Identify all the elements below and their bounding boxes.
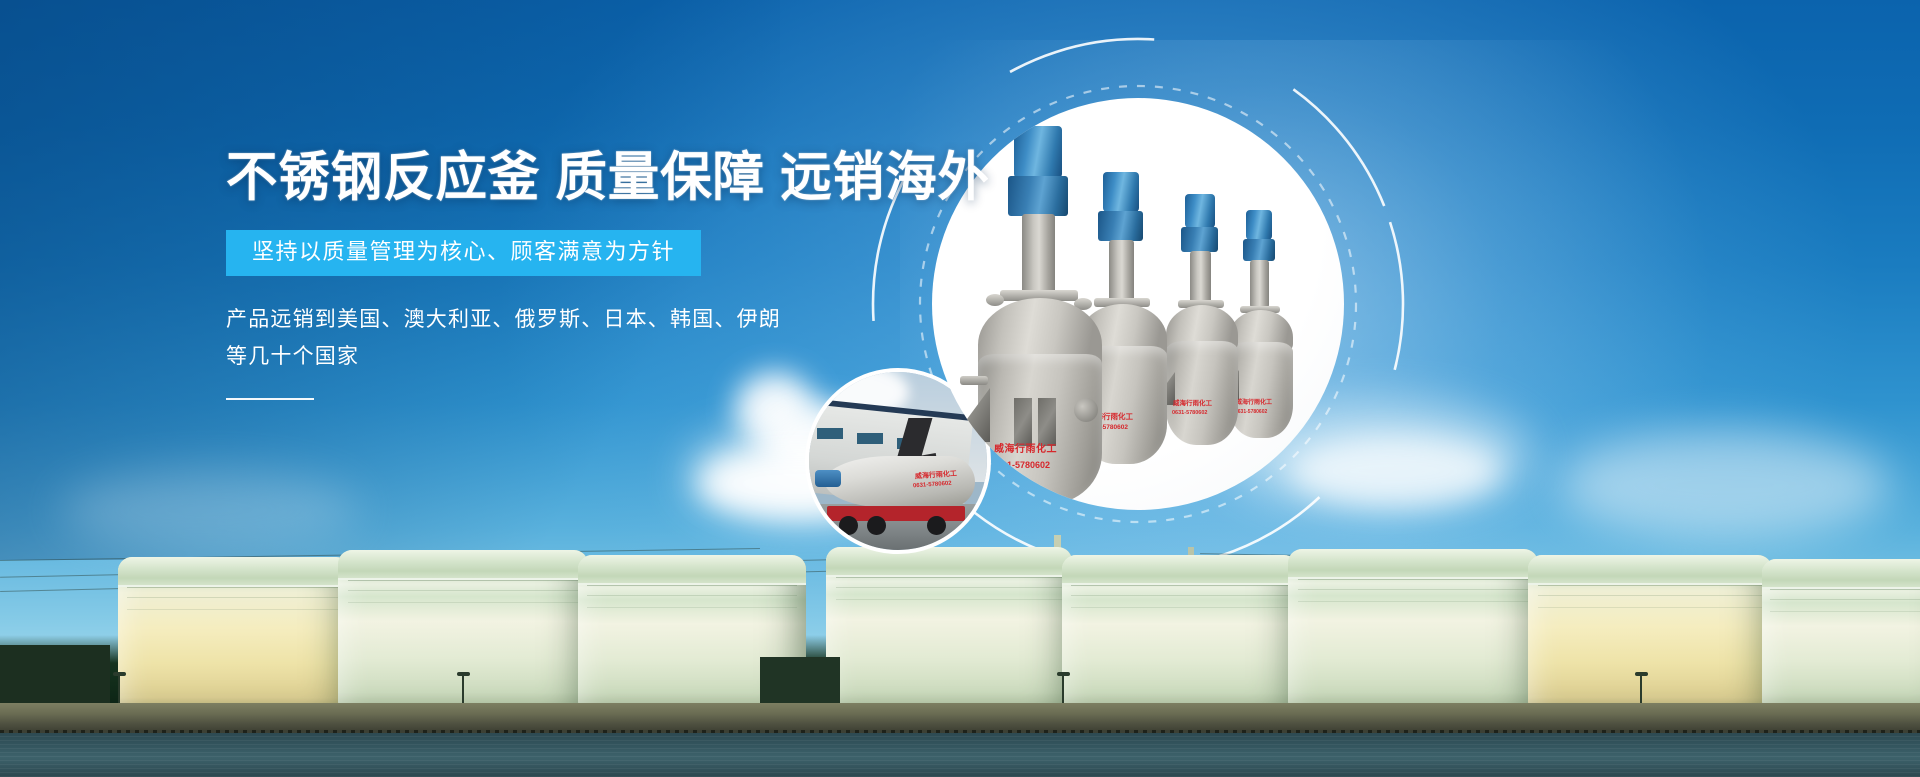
factory-window [817,428,843,439]
side-nozzle [960,376,988,385]
page-title: 不锈钢反应釜 质量保障 远销海外 [226,150,905,206]
storage-tank [118,557,350,705]
storage-tank [1062,555,1298,705]
subtitle-badge-label: 坚持以质量管理为核心、顾客满意为方针 [252,239,675,264]
agitator-shaft-housing [1022,214,1055,296]
subtitle-badge: 坚持以质量管理为核心、顾客满意为方针 [226,230,701,276]
agitator-motor [1246,210,1272,240]
sight-glass [1074,398,1098,422]
tanker-nozzle [815,470,841,487]
shore-building [0,645,110,705]
nozzle [986,294,1004,306]
quay-wall [0,703,1920,733]
tanker-vessel [825,456,975,508]
divider-rule [226,398,314,400]
description-line-1: 产品远销到美国、澳大利亚、俄罗斯、日本、韩国、伊朗 [226,302,926,339]
storage-tank [1528,555,1772,705]
vessel-phone-label: 0631-5780602 [992,460,1050,471]
description-paragraph: 产品远销到美国、澳大利亚、俄罗斯、日本、韩国、伊朗 等几十个国家 [226,302,926,376]
truck-wheel [867,516,886,535]
description-line-2: 等几十个国家 [226,339,926,376]
truck-wheel [839,516,858,535]
support-fin [1014,398,1032,446]
hero-banner: 威海行雨化工 0631-5780602 威海行雨化工 0631-5780602 … [0,0,1920,777]
street-lamp [1062,675,1064,703]
water [0,733,1920,777]
vessel-brand-label: 威海行雨化工 [994,444,1057,457]
agitator-motor [1185,194,1215,228]
banner-copy: 不锈钢反应釜 质量保障 远销海外 坚持以质量管理为核心、顾客满意为方针 产品远销… [226,150,926,400]
storage-tank [1762,559,1920,705]
shore-building [760,657,840,705]
factory-window [857,433,883,444]
storage-tank [1288,549,1538,705]
agitator-motor [1014,126,1062,178]
street-lamp [118,675,120,703]
product-photo-circle: 威海行雨化工 0631-5780602 威海行雨化工 0631-5780602 … [932,98,1344,510]
support-fin [1038,398,1056,446]
agitator-shaft-housing [1250,260,1269,308]
street-lamp [462,675,464,703]
reactor-vessel-1: 威海行雨化工 0631-5780602 [970,126,1120,484]
gearbox [1181,227,1218,252]
gearbox [1008,176,1068,216]
storage-tank [826,547,1072,705]
street-lamp [1640,675,1642,703]
agitator-shaft-housing [1190,251,1211,303]
truck-wheel [927,516,946,535]
